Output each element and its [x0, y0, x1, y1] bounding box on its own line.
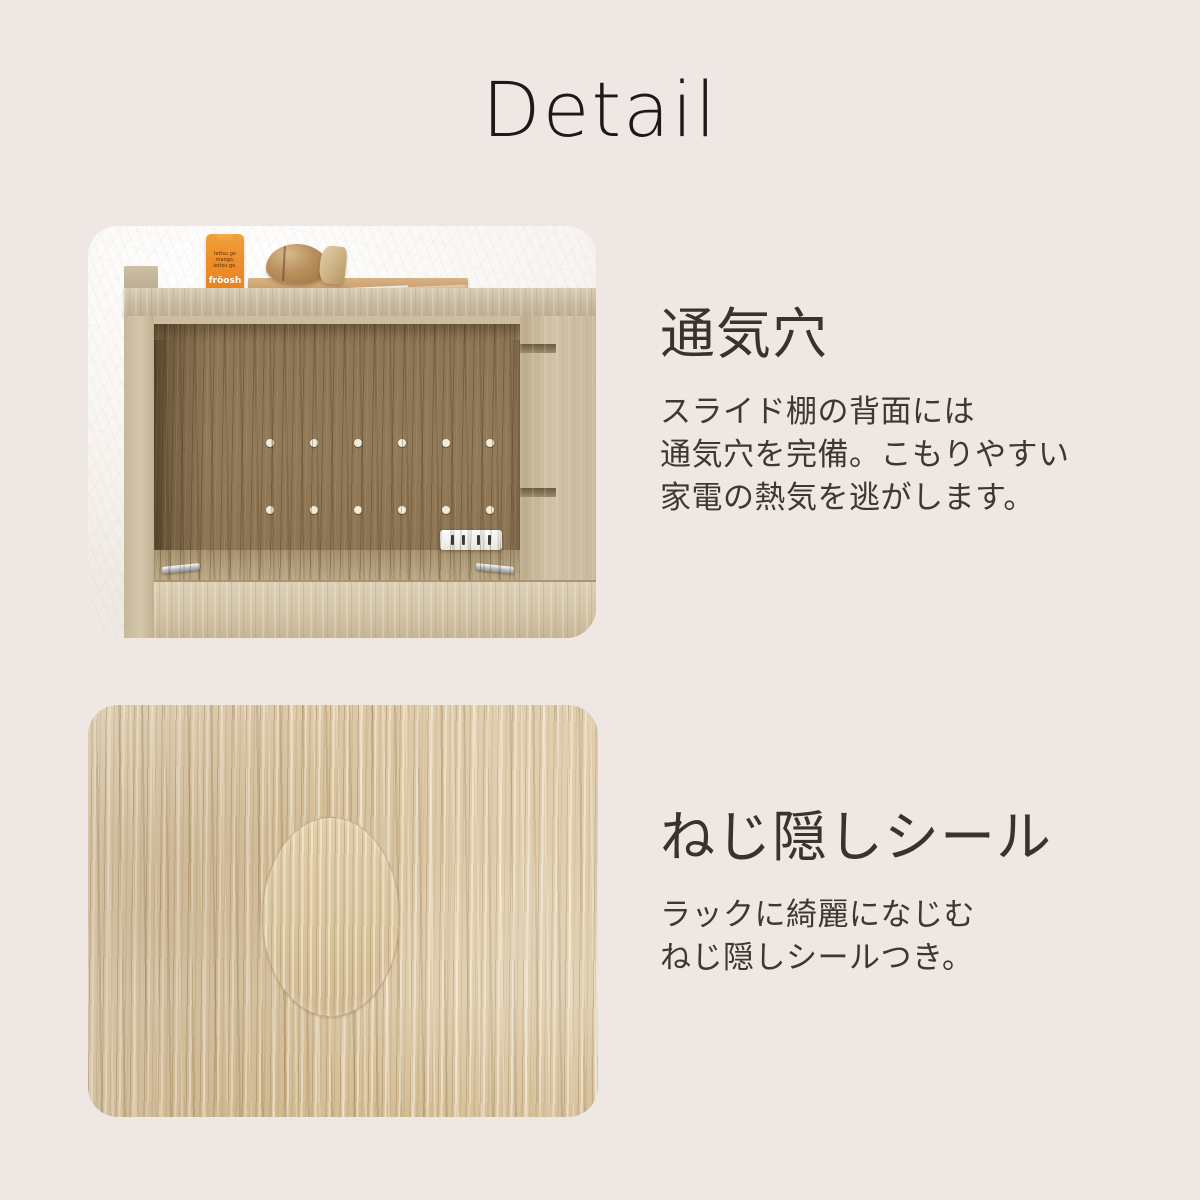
bottle-label-text: lettsu go mango, lettsu go. — [206, 251, 244, 269]
vent-holes-body: スライド棚の背面には 通気穴を完備。こもりやすい 家電の熱気を逃がします。 — [660, 391, 1070, 520]
counter-backsplash — [124, 266, 158, 290]
vent-hole — [398, 506, 406, 514]
slide-rail-left — [162, 563, 200, 574]
outlet-socket — [451, 535, 465, 545]
vent-hole — [266, 506, 274, 514]
outlet-socket — [477, 535, 491, 545]
cabinet-front-rail — [154, 580, 596, 638]
bread-loaf — [266, 244, 328, 284]
screw-cover-text-block: ねじ隠しシール ラックに綺麗になじむ ねじ隠しシールつき。 — [660, 806, 1052, 980]
screw-cover-body: ラックに綺麗になじむ ねじ隠しシールつき。 — [660, 894, 1052, 980]
vent-hole — [442, 506, 450, 514]
screw-body-line-1: ラックに綺麗になじむ — [660, 894, 1052, 937]
vent-hole — [486, 506, 494, 514]
cavity-top-shadow — [154, 324, 520, 340]
ventilation-hole-grid — [266, 439, 502, 589]
slide-rail-right — [476, 563, 514, 574]
bottle-neck — [217, 234, 233, 240]
vent-hole — [398, 439, 406, 447]
vent-hole — [442, 439, 450, 447]
power-outlet — [440, 530, 502, 550]
vent-body-line-3: 家電の熱気を逃がします。 — [660, 477, 1070, 520]
vent-hole — [310, 439, 318, 447]
vent-holes-text-block: 通気穴 スライド棚の背面には 通気穴を完備。こもりやすい 家電の熱気を逃がします… — [660, 303, 1070, 520]
bottle-brand-text: fröosh — [206, 277, 244, 286]
shelf-slot-notch — [520, 344, 556, 353]
screw-body-line-2: ねじ隠しシールつき。 — [660, 937, 1052, 980]
screw-cover-photo — [88, 705, 598, 1117]
cabinet-interior-cavity — [154, 324, 520, 624]
countertop-surface — [124, 288, 596, 318]
vent-holes-photo: lettsu go mango, lettsu go. fröosh fruit… — [88, 226, 596, 638]
screw-cover-sticker — [262, 817, 400, 1017]
vent-hole — [486, 439, 494, 447]
vent-hole — [354, 506, 362, 514]
vent-hole — [354, 439, 362, 447]
bottle-label-line3: lettsu go. — [213, 263, 236, 269]
shelf-slot-notch — [520, 488, 556, 497]
vent-body-line-2: 通気穴を完備。こもりやすい — [660, 434, 1070, 477]
cabinet-carcass — [124, 316, 596, 638]
vent-holes-heading: 通気穴 — [660, 303, 1070, 365]
vent-body-line-1: スライド棚の背面には — [660, 391, 1070, 434]
vent-hole — [266, 439, 274, 447]
vent-hole — [310, 506, 318, 514]
cavity-left-wall — [154, 324, 206, 624]
page-title: Detail — [0, 72, 1200, 148]
bread-slice — [318, 245, 348, 286]
screw-cover-heading: ねじ隠しシール — [660, 806, 1052, 868]
juice-bottle: lettsu go mango, lettsu go. fröosh fruit… — [206, 234, 244, 296]
cabinet-left-panel — [124, 316, 154, 638]
detail-page: Detail lettsu go mango, lettsu go. fröos… — [0, 0, 1200, 1200]
